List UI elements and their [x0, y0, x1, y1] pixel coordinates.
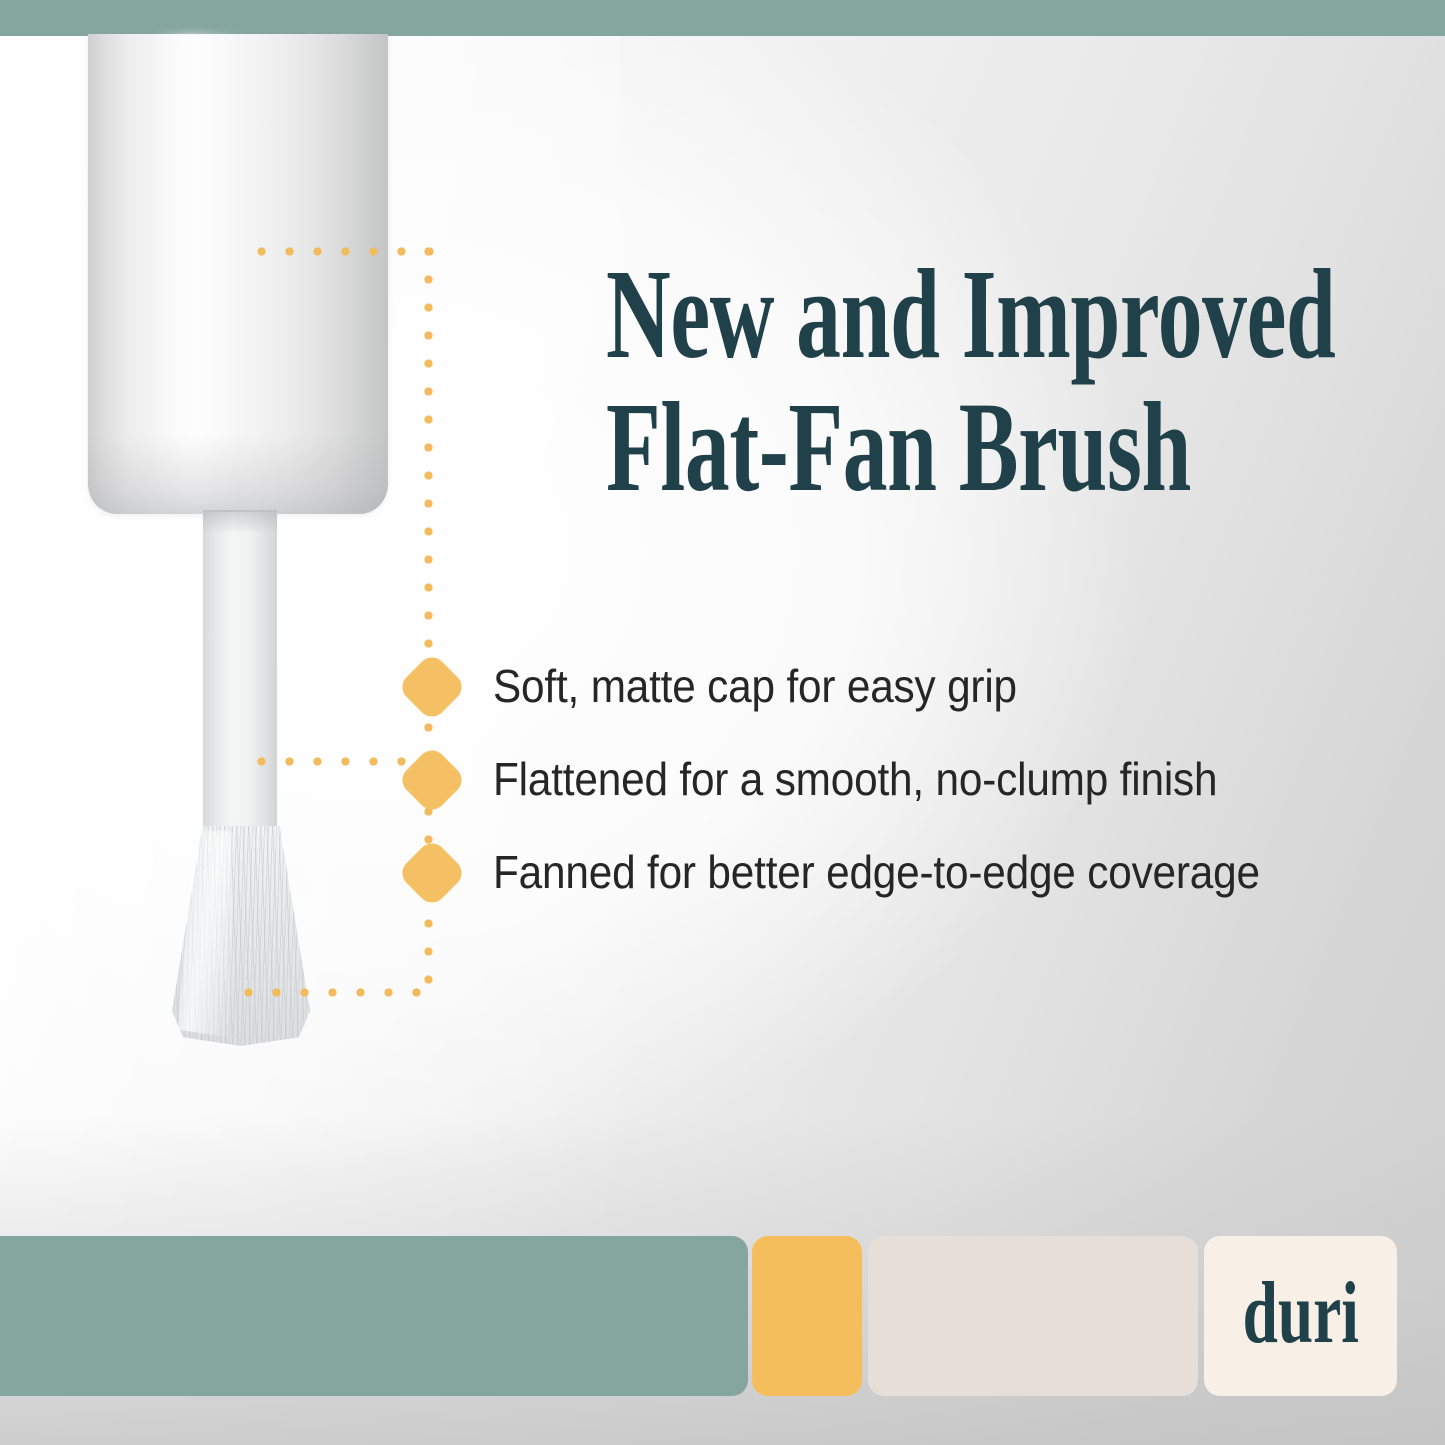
diamond-bullet-icon — [397, 651, 468, 722]
product-image-brush — [0, 0, 470, 1090]
infographic-canvas: New and Improved Flat-Fan Brush Soft, ma… — [0, 0, 1445, 1445]
headline-line-2: Flat-Fan Brush — [606, 385, 1341, 510]
feature-label: Flattened for a smooth, no-clump finish — [493, 755, 1217, 803]
bottom-bar-segment-green — [0, 1236, 748, 1396]
feature-item-soft-matte-cap: Soft, matte cap for easy grip — [405, 640, 1395, 733]
brush-stem-shadow — [203, 510, 277, 532]
connector-bristles-horizontal — [243, 987, 435, 998]
brand-logo-duri: duri — [1242, 1270, 1358, 1362]
feature-list: Soft, matte cap for easy grip Flattened … — [405, 640, 1395, 919]
bottom-bar-segment-beige — [868, 1236, 1198, 1396]
bottom-bar-segment-amber — [752, 1236, 862, 1396]
connector-stem-horizontal — [256, 756, 428, 767]
diamond-bullet-icon — [397, 744, 468, 815]
diamond-bullet-icon — [397, 837, 468, 908]
feature-item-flattened-finish: Flattened for a smooth, no-clump finish — [405, 733, 1395, 826]
brush-cap-shadow — [88, 434, 388, 514]
connector-cap-horizontal — [256, 246, 436, 257]
feature-item-fanned-coverage: Fanned for better edge-to-edge coverage — [405, 826, 1395, 919]
headline-line-1: New and Improved — [606, 252, 1341, 377]
feature-label: Fanned for better edge-to-edge coverage — [493, 848, 1260, 896]
brush-stem — [203, 512, 277, 830]
feature-label: Soft, matte cap for easy grip — [493, 662, 1017, 710]
bottom-bar-segment-cream: duri — [1204, 1236, 1397, 1396]
page-title: New and Improved Flat-Fan Brush — [606, 252, 1341, 511]
